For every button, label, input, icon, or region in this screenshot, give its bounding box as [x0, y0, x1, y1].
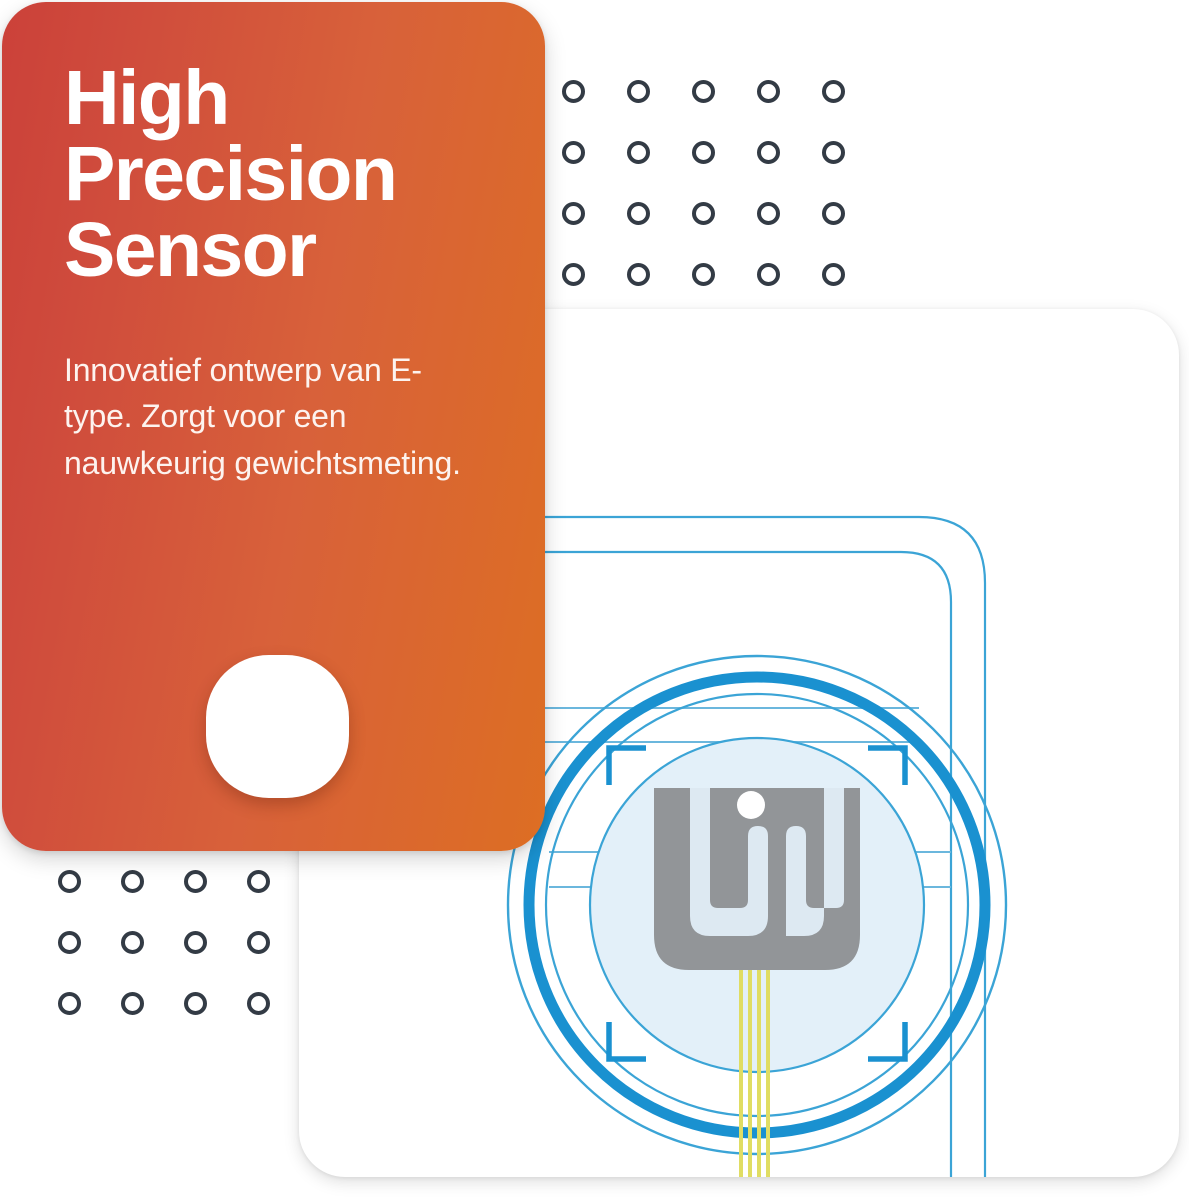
dot: [757, 202, 780, 225]
dot-grid-bottom: [58, 870, 310, 1053]
dot: [562, 141, 585, 164]
dot: [822, 141, 845, 164]
dot: [121, 931, 144, 954]
dot: [692, 202, 715, 225]
dot: [627, 202, 650, 225]
dot: [627, 141, 650, 164]
dot: [562, 80, 585, 103]
dot: [121, 992, 144, 1015]
info-panel: High Precision Sensor Innovatief ontwerp…: [2, 2, 545, 851]
dot: [184, 931, 207, 954]
dot: [692, 263, 715, 286]
poster-canvas: High Precision Sensor Innovatief ontwerp…: [0, 0, 1189, 1200]
panel-description: Innovatief ontwerp van E-type. Zorgt voo…: [64, 289, 464, 487]
dot: [822, 202, 845, 225]
dot: [562, 263, 585, 286]
dot: [184, 870, 207, 893]
dot: [757, 141, 780, 164]
panel-badge: [206, 655, 349, 798]
dot: [692, 80, 715, 103]
dot: [757, 263, 780, 286]
dot: [822, 263, 845, 286]
dot: [562, 202, 585, 225]
dot: [58, 992, 81, 1015]
page-title: High Precision Sensor: [64, 60, 485, 289]
dot: [58, 870, 81, 893]
dot: [121, 870, 144, 893]
dot: [692, 141, 715, 164]
dot: [247, 931, 270, 954]
dot: [58, 931, 81, 954]
dot: [627, 80, 650, 103]
dot-grid-top: [562, 80, 887, 324]
dot: [247, 992, 270, 1015]
dot: [822, 80, 845, 103]
dot: [184, 992, 207, 1015]
dot: [757, 80, 780, 103]
dot: [247, 870, 270, 893]
dot: [627, 263, 650, 286]
